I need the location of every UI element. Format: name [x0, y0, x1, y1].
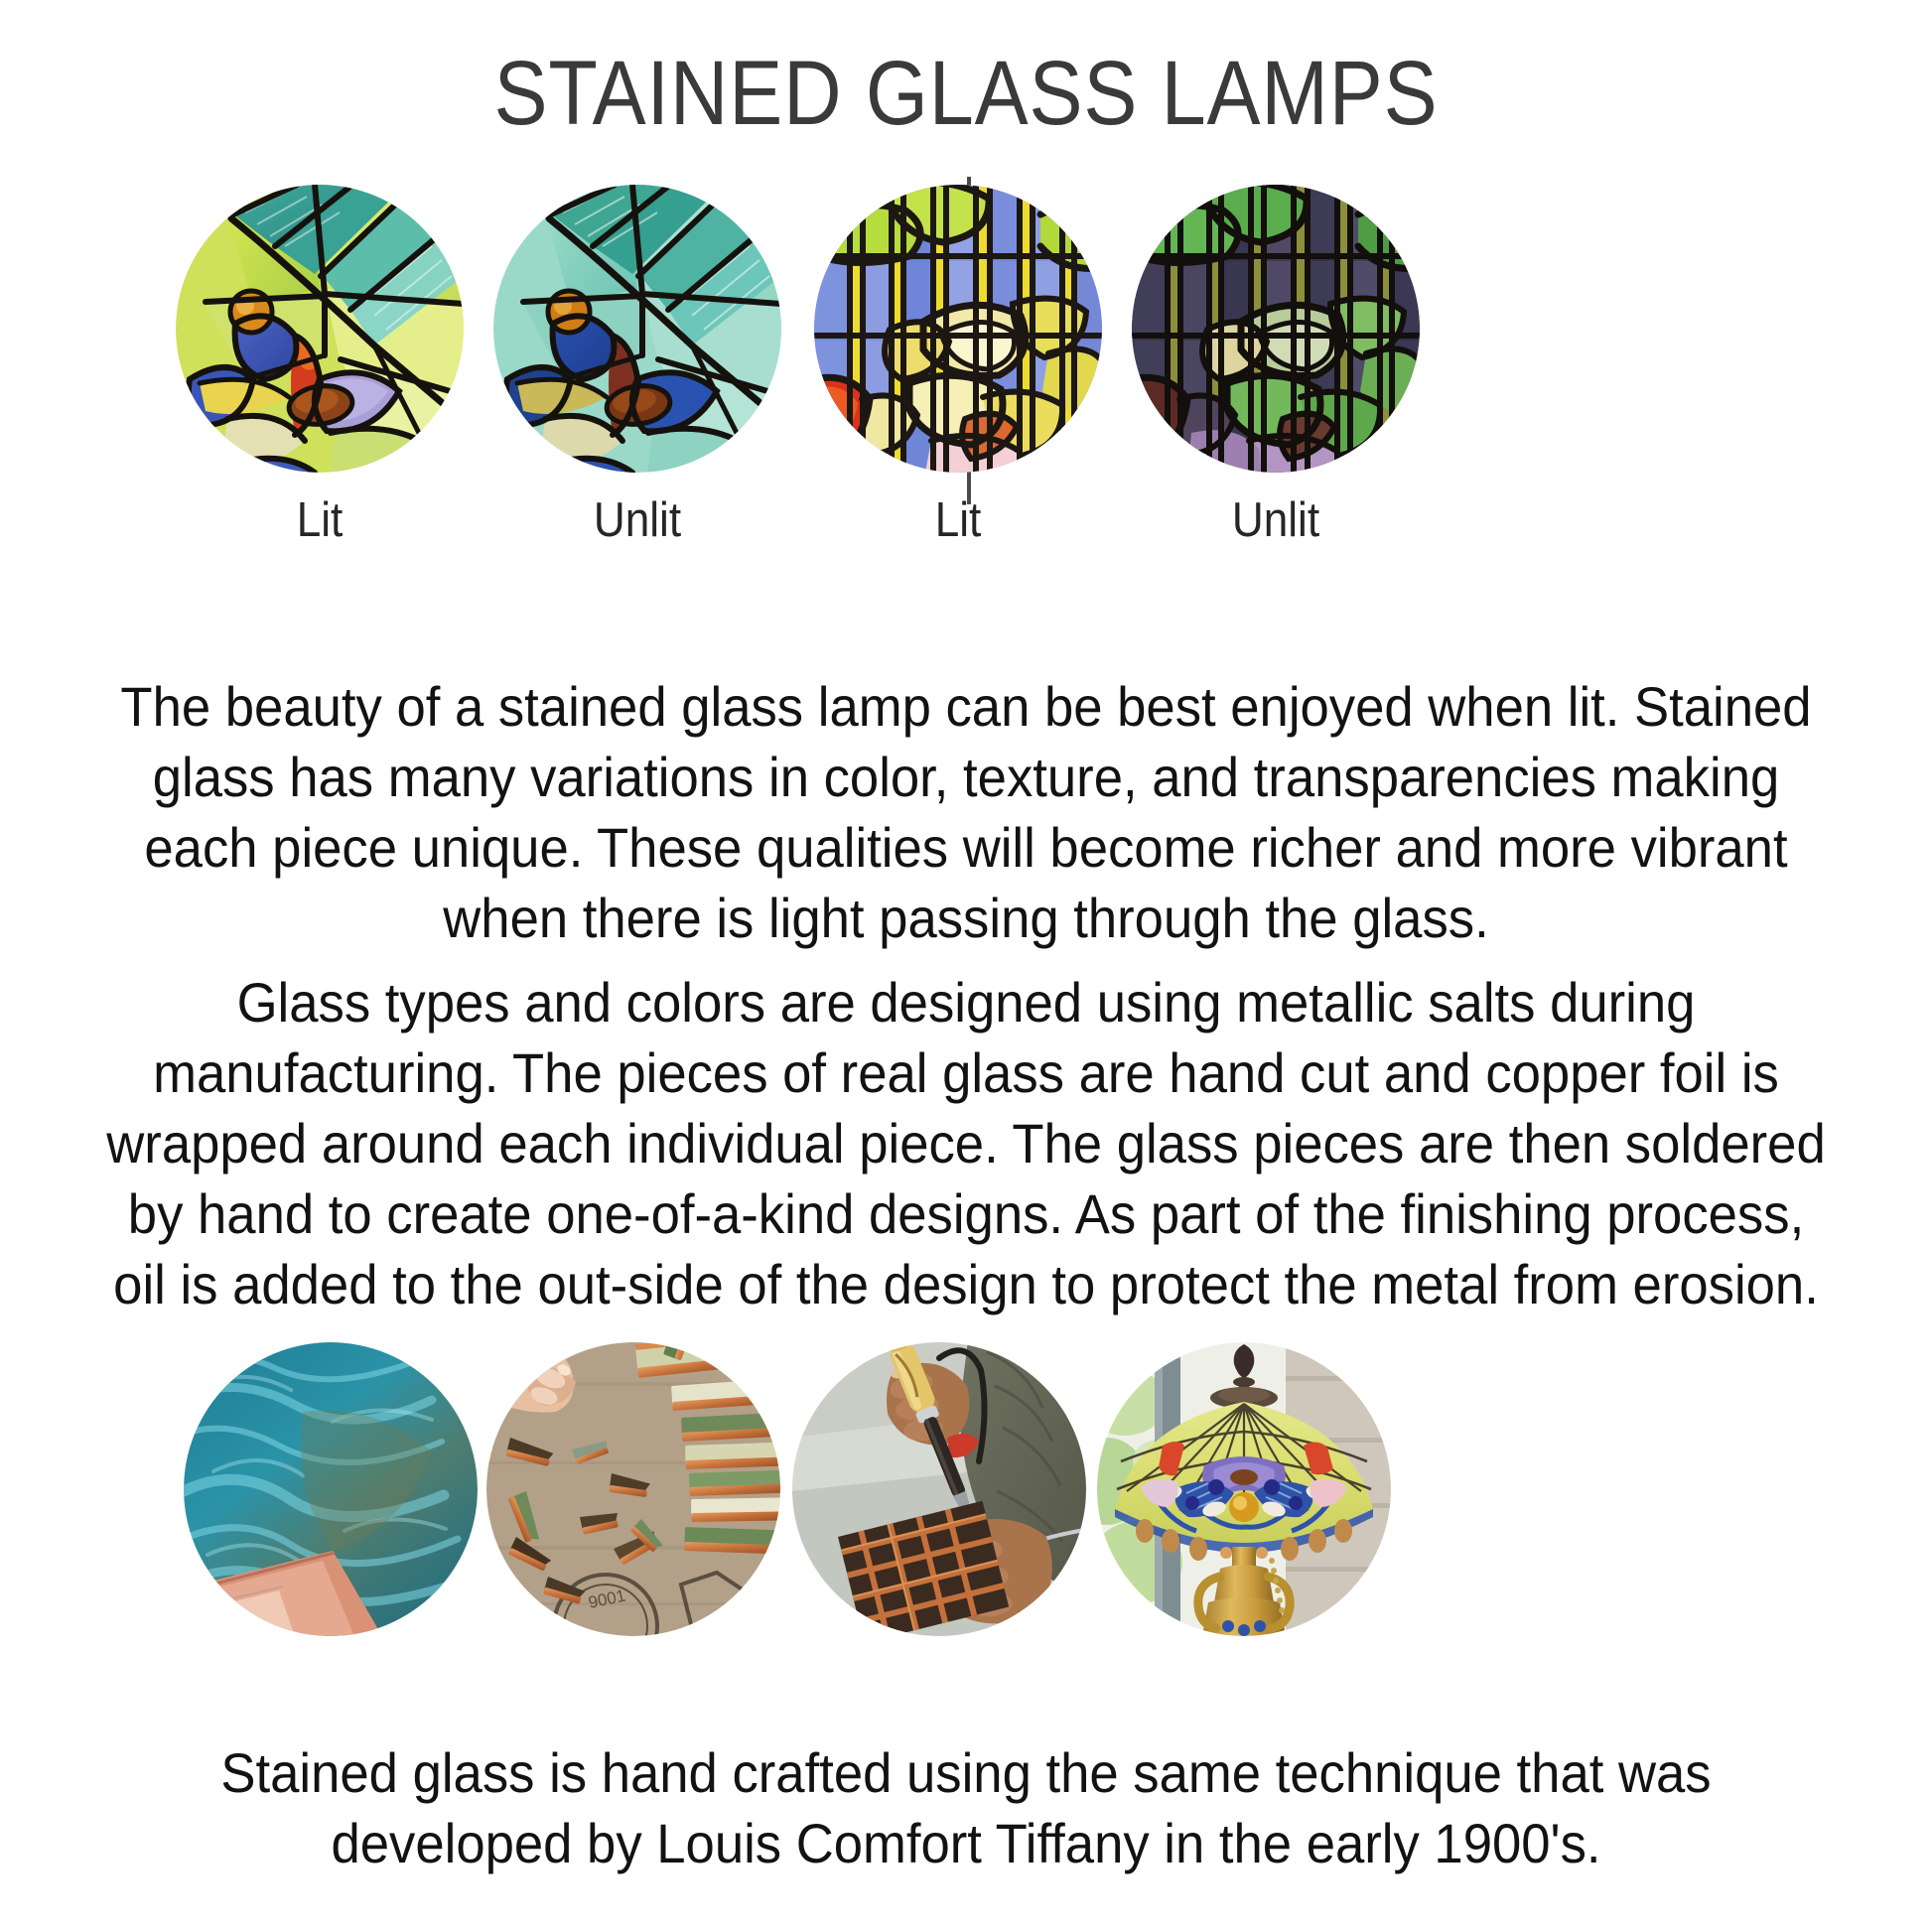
- cell-label: Lit: [191, 494, 450, 548]
- comparison-cell-lamp2-unlit: Unlit: [1132, 185, 1420, 548]
- paragraph-beauty: The beauty of a stained glass lamp can b…: [104, 671, 1827, 953]
- footer-attribution: Stained glass is hand crafted using the …: [104, 1737, 1827, 1878]
- infographic-page: STAINED GLASS LAMPS: [0, 0, 1932, 1932]
- lamp-1-unlit-detail-image: [493, 185, 781, 473]
- cell-label: Lit: [829, 494, 1088, 548]
- finished-lamp-photo: [1097, 1342, 1391, 1636]
- lamp-1-lit-detail-image: [176, 185, 464, 473]
- glass-sheet-photo: [184, 1342, 478, 1636]
- copper-foil-photo: 9001: [486, 1342, 780, 1636]
- comparison-cell-lamp2-lit: Lit: [814, 185, 1102, 548]
- page-title: STAINED GLASS LAMPS: [116, 42, 1816, 147]
- lamp-comparison-strip: Lit: [0, 185, 1932, 602]
- lamp-2-unlit-detail-image: [1132, 185, 1420, 473]
- cell-label: Unlit: [508, 494, 767, 548]
- comparison-cell-lamp1-lit: Lit: [176, 185, 464, 548]
- paragraph-process: Glass types and colors are designed usin…: [104, 967, 1827, 1320]
- soldering-photo: [792, 1342, 1086, 1636]
- process-image-row: 9001: [0, 1342, 1932, 1640]
- comparison-cell-lamp1-unlit: Unlit: [493, 185, 781, 548]
- cell-label: Unlit: [1147, 494, 1406, 548]
- lamp-2-lit-detail-image: [814, 185, 1102, 473]
